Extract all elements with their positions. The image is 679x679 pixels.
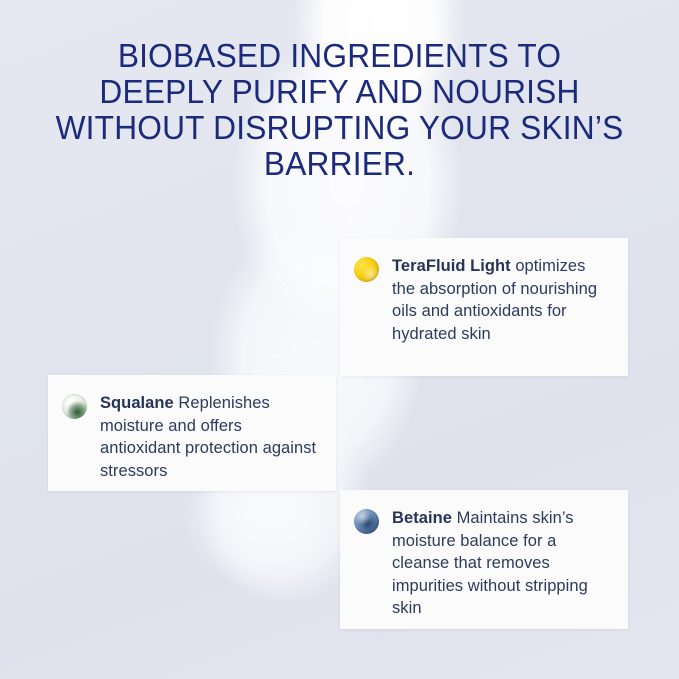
water-swirl-icon: [354, 509, 379, 534]
ingredient-name: TeraFluid Light: [392, 257, 511, 275]
oil-drop-icon: [354, 257, 379, 282]
ingredient-card-squalane: Squalane Replenishes moisture and offers…: [48, 375, 336, 491]
ingredient-card-text: TeraFluid Light optimizes the absorption…: [392, 255, 612, 345]
ingredient-card-betaine: Betaine Maintains skin’s moisture balanc…: [340, 490, 628, 629]
page-title: BIOBASED INGREDIENTS TO DEEPLY PURIFY AN…: [14, 38, 666, 182]
plant-leaf-icon: [62, 394, 87, 419]
infographic-canvas: BIOBASED INGREDIENTS TO DEEPLY PURIFY AN…: [0, 0, 679, 679]
foam-tail: [140, 470, 370, 679]
ingredient-card-text: Squalane Replenishes moisture and offers…: [100, 392, 320, 482]
ingredient-name: Betaine: [392, 509, 452, 527]
ingredient-card-terafluid-light: TeraFluid Light optimizes the absorption…: [340, 238, 628, 376]
ingredient-name: Squalane: [100, 394, 174, 412]
ingredient-card-text: Betaine Maintains skin’s moisture balanc…: [392, 507, 612, 620]
